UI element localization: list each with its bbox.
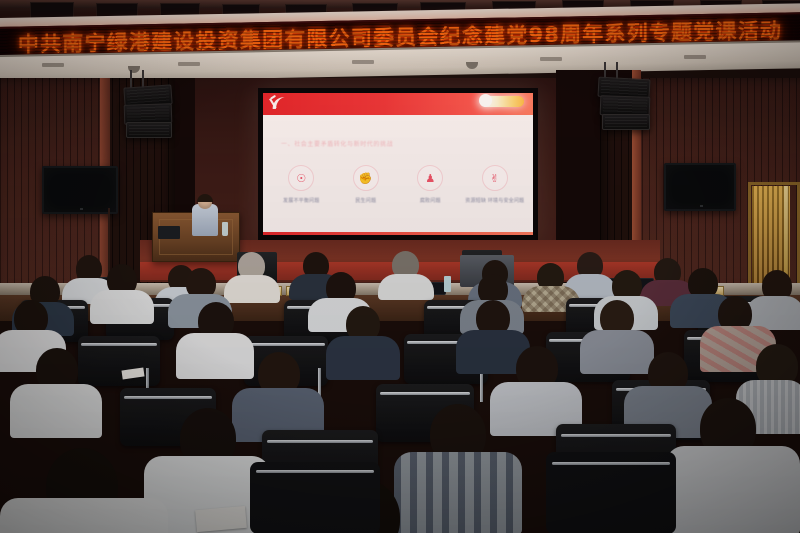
slide-item-label: 腐败问题 [420, 198, 441, 206]
chair-chrome-bar [552, 462, 670, 465]
speaker-hanger-left [130, 70, 132, 88]
handshake-icon: ✌ [482, 165, 508, 191]
slide-item: ♟ 腐败问题 [398, 165, 463, 206]
handout-paper [195, 506, 247, 532]
slide-item: ✊ 民生问题 [334, 165, 399, 206]
hand-icon: ✊ [353, 165, 379, 191]
attendee-body [10, 384, 102, 438]
slide-item-label: 民生问题 [355, 198, 376, 206]
slide-item: ☉ 发展不平衡问题 [269, 165, 334, 206]
tv-indicator-led-right [700, 205, 703, 207]
person-icon: ♟ [417, 165, 443, 191]
attendee-body [90, 290, 154, 324]
attendee-body [666, 446, 800, 533]
chair-chrome-bar [256, 470, 374, 473]
slide-item: ✌ 资源短缺 环境与安全问题 [463, 165, 528, 206]
attendee-body [176, 333, 254, 379]
attendee-body [326, 336, 400, 380]
ceiling-vent [540, 57, 562, 61]
photo-canvas: 中共南宁绿港建设投资集团有限公司委员会纪念建党98周年系列专题党课活动 [0, 0, 800, 533]
ceiling-vent [178, 62, 200, 66]
slide-item-label: 发展不平衡问题 [283, 198, 319, 206]
slide-footer-bar [263, 232, 533, 235]
ceiling-vent [684, 55, 706, 59]
line-array-speaker-right [602, 114, 650, 130]
attendee-body [0, 498, 168, 533]
header-flare-dot [479, 94, 492, 107]
shield-icon: ☉ [288, 165, 314, 191]
water-bottle-podium [222, 222, 228, 236]
attendee-body [378, 274, 434, 300]
slide-title: 一、社会主要矛盾转化与新时代的挑战 [281, 139, 517, 148]
tv-indicator-led-left [80, 208, 83, 210]
attendee-body [394, 452, 522, 533]
slide-header-bar [263, 93, 533, 115]
slide-item-row: ☉ 发展不平衡问题 ✊ 民生问题 ♟ 腐败问题 ✌ 资源短缺 环境与安全问题 [269, 165, 527, 206]
ceiling-vent [42, 63, 64, 67]
curtain-gap-highlight [784, 186, 788, 286]
water-bottle-desk [444, 276, 451, 292]
wall-mounted-tv-left [42, 166, 118, 214]
ceiling-vent [352, 60, 374, 64]
slide-item-label: 资源短缺 环境与安全问题 [465, 198, 524, 206]
laptop [158, 226, 180, 239]
attendee-body [580, 330, 654, 374]
attendee-body [746, 296, 800, 330]
attendee-body [224, 275, 280, 303]
hammer-and-sickle-icon [269, 94, 289, 113]
projected-slide: 一、社会主要矛盾转化与新时代的挑战 ☉ 发展不平衡问题 ✊ 民生问题 ♟ 腐败问… [263, 93, 533, 235]
projection-screen: 一、社会主要矛盾转化与新时代的挑战 ☉ 发展不平衡问题 ✊ 民生问题 ♟ 腐败问… [258, 88, 538, 240]
line-array-speaker-left [126, 122, 172, 138]
wall-mounted-tv-right [664, 163, 736, 211]
